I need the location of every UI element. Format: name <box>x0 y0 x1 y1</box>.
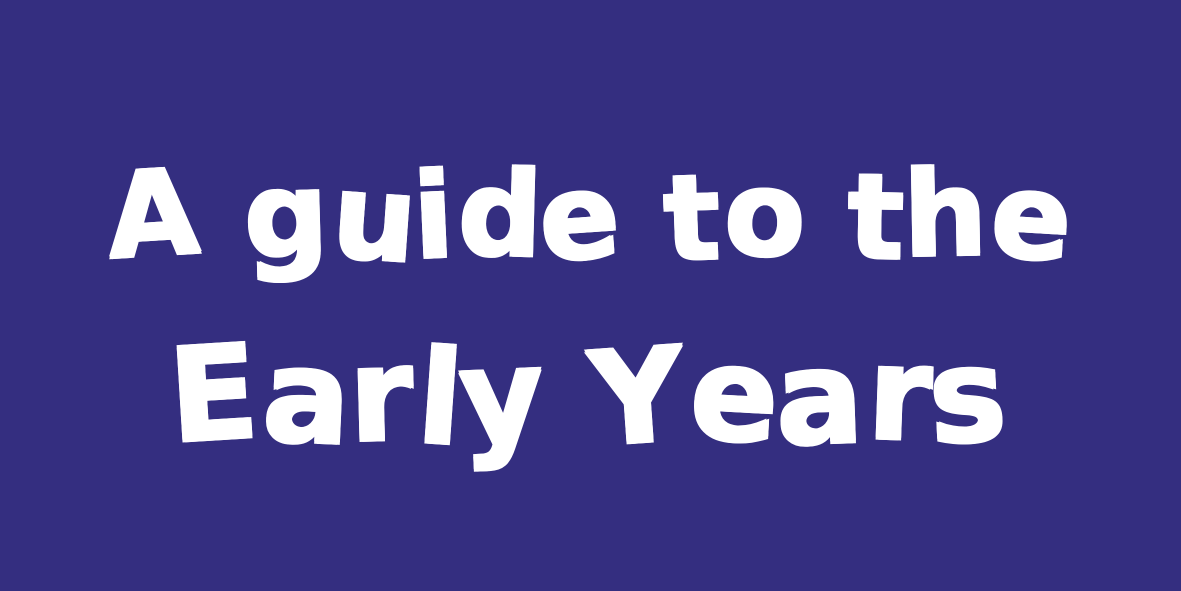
headline-line-2: Early Years <box>172 299 1010 461</box>
headline-glyph: A <box>104 152 203 275</box>
headline-glyph: r <box>865 327 935 459</box>
headline-glyph: a <box>261 330 355 464</box>
headline-glyph: a <box>773 331 866 464</box>
headline-glyph: y <box>456 329 547 463</box>
headline-glyph: o <box>722 153 808 274</box>
headline-glyph: u <box>329 156 422 280</box>
headline-glyph: t <box>662 158 724 278</box>
headline-block: A guide to the Early Years <box>0 125 1181 461</box>
headline-glyph: t <box>847 157 906 276</box>
headline-line-1: A guide to the <box>110 125 1070 275</box>
headline-glyph: Y <box>585 328 689 464</box>
headline-glyph: h <box>903 154 990 273</box>
headline-glyph: i <box>411 156 458 276</box>
headline-glyph <box>800 156 848 276</box>
headline-glyph: s <box>925 329 1010 463</box>
headline-glyph: g <box>242 154 331 274</box>
headline-glyph: e <box>535 155 624 278</box>
title-card-canvas: A guide to the Early Years <box>0 0 1181 591</box>
headline-glyph: d <box>456 153 545 273</box>
headline-glyph: e <box>687 327 783 461</box>
headline-glyph: E <box>165 326 263 461</box>
headline-glyph: r <box>347 329 416 461</box>
headline-glyph: e <box>988 155 1076 278</box>
